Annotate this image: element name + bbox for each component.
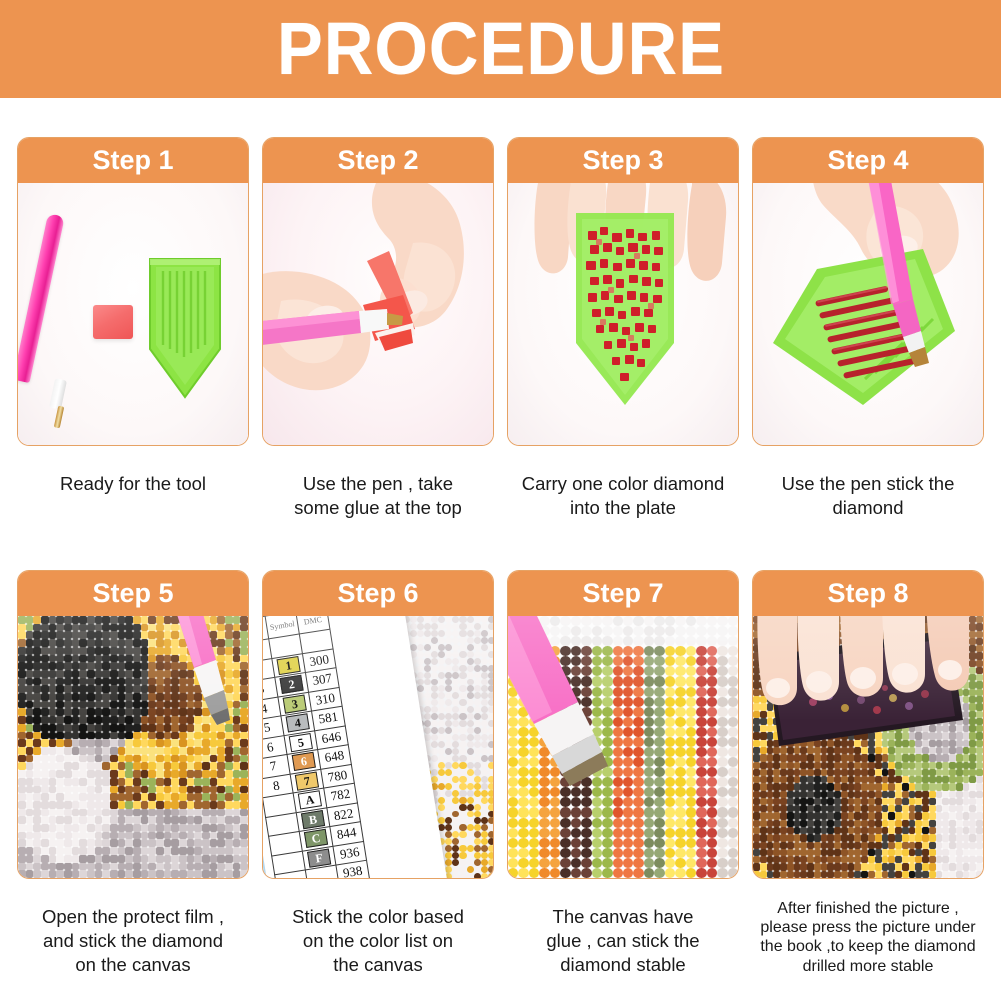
step-card-4[interactable]: Step 4 <box>752 137 984 446</box>
step-image-8 <box>753 616 983 878</box>
page-title: PROCEDURE <box>276 12 724 86</box>
page-banner: PROCEDURE <box>0 0 1001 98</box>
step-caption-2: Use the pen , takesome glue at the top <box>262 472 494 520</box>
step-image-2 <box>263 183 493 445</box>
step-header-label-5: Step 5 <box>92 580 173 607</box>
step-header-1: Step 1 <box>18 138 248 183</box>
step-header-4: Step 4 <box>753 138 983 183</box>
step-caption-6: Stick the color basedon the color list o… <box>262 905 494 977</box>
step-caption-7: The canvas haveglue , can stick thediamo… <box>507 905 739 977</box>
steps-grid: Step 1 <box>0 98 1001 1001</box>
step-card-5[interactable]: Step 5 <box>17 570 249 879</box>
step-caption-5: Open the protect film ,and stick the dia… <box>17 905 249 977</box>
step-cell-2: Step 2 <box>262 137 494 520</box>
step-caption-3: Carry one color diamondinto the plate <box>507 472 739 520</box>
step-header-6: Step 6 <box>263 571 493 616</box>
step-header-5: Step 5 <box>18 571 248 616</box>
wax-square-icon <box>93 305 133 339</box>
step-header-7: Step 7 <box>508 571 738 616</box>
step-caption-1: Ready for the tool <box>17 472 249 496</box>
step-image-5 <box>18 616 248 878</box>
procedure-infographic: PROCEDURE Step 1 <box>0 0 1001 1001</box>
step-card-3[interactable]: Step 3 <box>507 137 739 446</box>
dmc-chart-table: NoSymbolDMC12130032307433105458165646766… <box>263 616 376 878</box>
step-cell-8: Step 8 <box>752 570 984 977</box>
steps-row-bottom: Step 5 <box>0 570 1001 977</box>
step-cell-3: Step 3 <box>507 137 739 520</box>
step-card-7[interactable]: Step 7 <box>507 570 739 879</box>
steps-row-top: Step 1 <box>0 137 1001 520</box>
step-header-label-7: Step 7 <box>582 580 663 607</box>
step-image-6: NoSymbolDMC12130032307433105458165646766… <box>263 616 493 878</box>
step-header-label-6: Step 6 <box>337 580 418 607</box>
pink-pen-tool-icon <box>508 616 738 878</box>
pink-pen-icon <box>18 213 65 383</box>
step-cell-6: Step 6 NoSymbolDMC1213003230743310545816… <box>262 570 494 977</box>
step-header-8: Step 8 <box>753 571 983 616</box>
step-caption-8: After finished the picture ,please press… <box>752 899 984 976</box>
step-header-label-1: Step 1 <box>92 147 173 174</box>
step-header-label-2: Step 2 <box>337 147 418 174</box>
step-card-8[interactable]: Step 8 <box>752 570 984 879</box>
pink-pen-on-canvas-icon <box>18 616 248 878</box>
step-card-6[interactable]: Step 6 NoSymbolDMC1213003230743310545816… <box>262 570 494 879</box>
step-cell-4: Step 4 <box>752 137 984 520</box>
step-image-7 <box>508 616 738 878</box>
step-card-2[interactable]: Step 2 <box>262 137 494 446</box>
step-image-4 <box>753 183 983 445</box>
step-header-label-3: Step 3 <box>582 147 663 174</box>
step-header-3: Step 3 <box>508 138 738 183</box>
step-header-label-8: Step 8 <box>827 580 908 607</box>
step-cell-7: Step 7 <box>507 570 739 977</box>
step-header-2: Step 2 <box>263 138 493 183</box>
step-card-1[interactable]: Step 1 <box>17 137 249 446</box>
step-image-3 <box>508 183 738 445</box>
step-cell-5: Step 5 <box>17 570 249 977</box>
step-cell-1: Step 1 <box>17 137 249 520</box>
pen-picking-diamonds-illustration <box>753 183 983 445</box>
tray-with-red-diamonds-illustration <box>508 183 738 445</box>
step-header-label-4: Step 4 <box>827 147 908 174</box>
hands-pressing-book-illustration <box>753 616 983 878</box>
hands-with-glue-illustration <box>263 183 493 445</box>
step-image-1 <box>18 183 248 445</box>
step-caption-4: Use the pen stick thediamond <box>752 472 984 520</box>
green-tray-icon <box>146 253 224 403</box>
pen-metal-tip-icon <box>54 406 64 429</box>
